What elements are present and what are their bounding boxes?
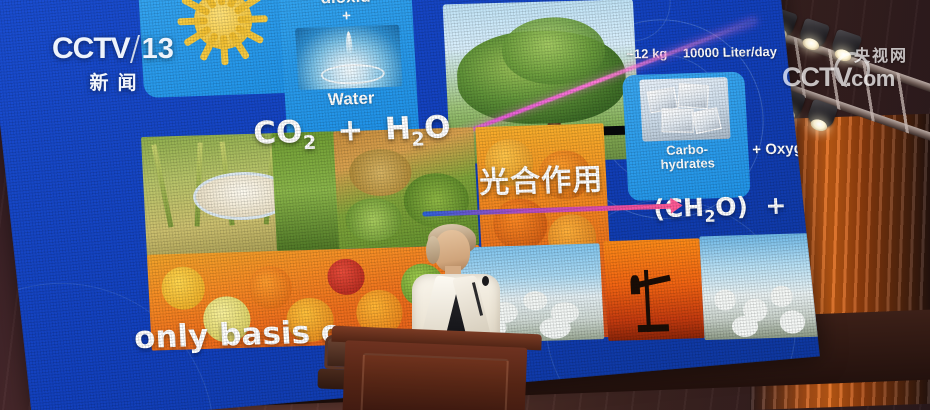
speaking-podium: [328, 326, 542, 410]
plus-sign: +: [280, 5, 413, 27]
channel-logo: CCTV 13 新闻: [52, 32, 174, 95]
output-rate-label: 10000 Liter/day: [683, 44, 778, 61]
oil-derrick-photo: [603, 238, 704, 341]
channel-logo-text: CCTV: [52, 32, 130, 66]
pump-jack-icon: [630, 269, 677, 332]
broadcast-screenshot: Energy 10000 Liter: [0, 0, 930, 410]
channel-logo-divider: [130, 35, 140, 63]
network-watermark: 央视网 CCTV .com: [782, 42, 908, 93]
microphone-icon: [482, 276, 489, 286]
channel-logo-row: CCTV 13: [52, 32, 174, 66]
water-droplet-photo: [295, 24, 403, 89]
photosynthesis-label-cn: 光合作用: [478, 154, 604, 201]
speaker-hair-side: [426, 236, 440, 264]
slide-bottom-text: only basis o: [133, 314, 343, 356]
channel-number: 13: [142, 33, 174, 66]
cotton-field-photo-2: [699, 233, 820, 340]
sun-icon: [192, 0, 253, 50]
channel-name-cn: 新闻: [89, 68, 145, 95]
equation-left-side: CO2 + H2O: [252, 109, 451, 155]
